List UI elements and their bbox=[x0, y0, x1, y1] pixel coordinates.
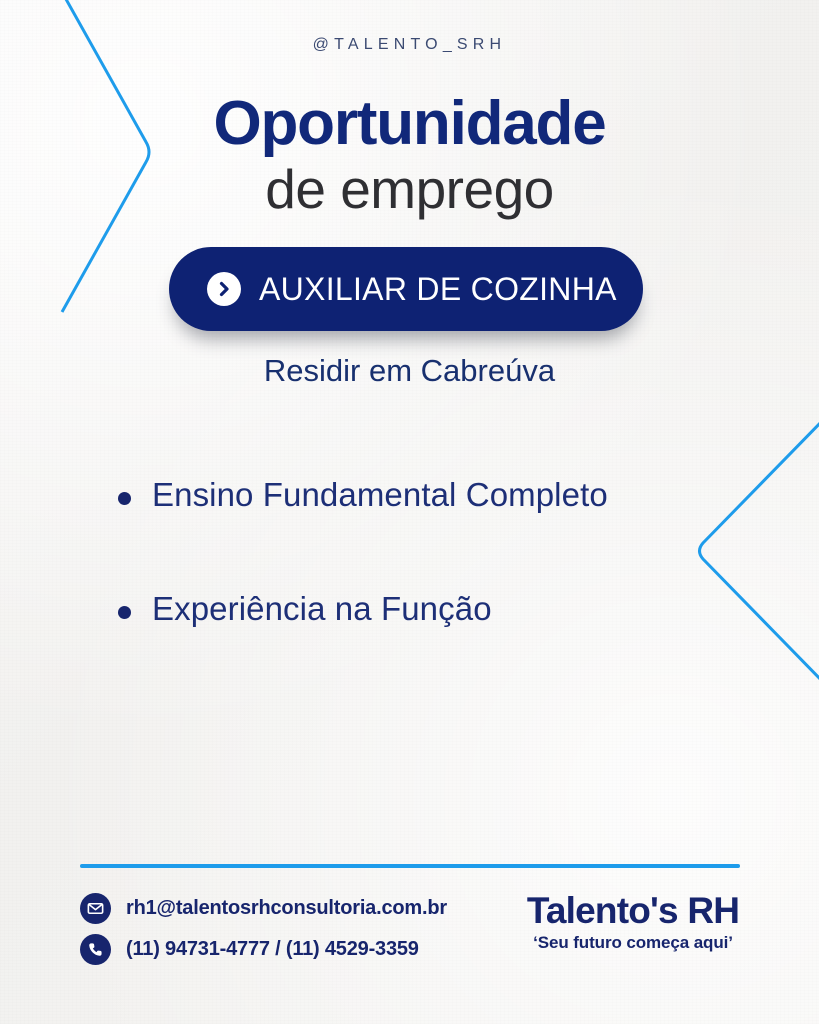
poster-canvas: @TALENTO_SRH Oportunidade de emprego AUX… bbox=[0, 0, 819, 1024]
email-address: rh1@talentosrhconsultoria.com.br bbox=[126, 897, 447, 920]
title-sub: de emprego bbox=[0, 160, 819, 218]
requirement-text: Experiência na Função bbox=[152, 589, 492, 629]
role-pill-container: AUXILIAR DE COZINHA bbox=[169, 247, 643, 331]
location-requirement: Residir em Cabreúva bbox=[0, 353, 819, 389]
contact-row-phone[interactable]: (11) 94731-4777 / (11) 4529-3359 bbox=[80, 934, 447, 965]
instagram-handle: @TALENTO_SRH bbox=[0, 36, 819, 54]
requirements-list: Ensino Fundamental Completo Experiência … bbox=[118, 475, 738, 703]
brand-tagline: ‘Seu futuro começa aqui’ bbox=[508, 933, 758, 953]
role-label: AUXILIAR DE COZINHA bbox=[259, 271, 617, 308]
list-item: Experiência na Função bbox=[118, 589, 738, 629]
title-main: Oportunidade bbox=[0, 92, 819, 156]
chevron-right-icon bbox=[207, 272, 241, 306]
contact-row-email[interactable]: rh1@talentosrhconsultoria.com.br bbox=[80, 893, 447, 924]
bullet-icon bbox=[118, 606, 131, 619]
role-pill[interactable]: AUXILIAR DE COZINHA bbox=[169, 247, 643, 331]
envelope-icon bbox=[80, 893, 111, 924]
bullet-icon bbox=[118, 492, 131, 505]
page-title: Oportunidade de emprego bbox=[0, 92, 819, 218]
brand-logo: Talento's RH ‘Seu futuro começa aqui’ bbox=[508, 891, 758, 953]
phone-numbers: (11) 94731-4777 / (11) 4529-3359 bbox=[126, 938, 419, 961]
footer-divider bbox=[80, 864, 740, 868]
contact-block: rh1@talentosrhconsultoria.com.br (11) 94… bbox=[80, 893, 447, 975]
phone-icon bbox=[80, 934, 111, 965]
requirement-text: Ensino Fundamental Completo bbox=[152, 475, 608, 515]
brand-name: Talento's RH bbox=[508, 891, 758, 931]
list-item: Ensino Fundamental Completo bbox=[118, 475, 738, 515]
